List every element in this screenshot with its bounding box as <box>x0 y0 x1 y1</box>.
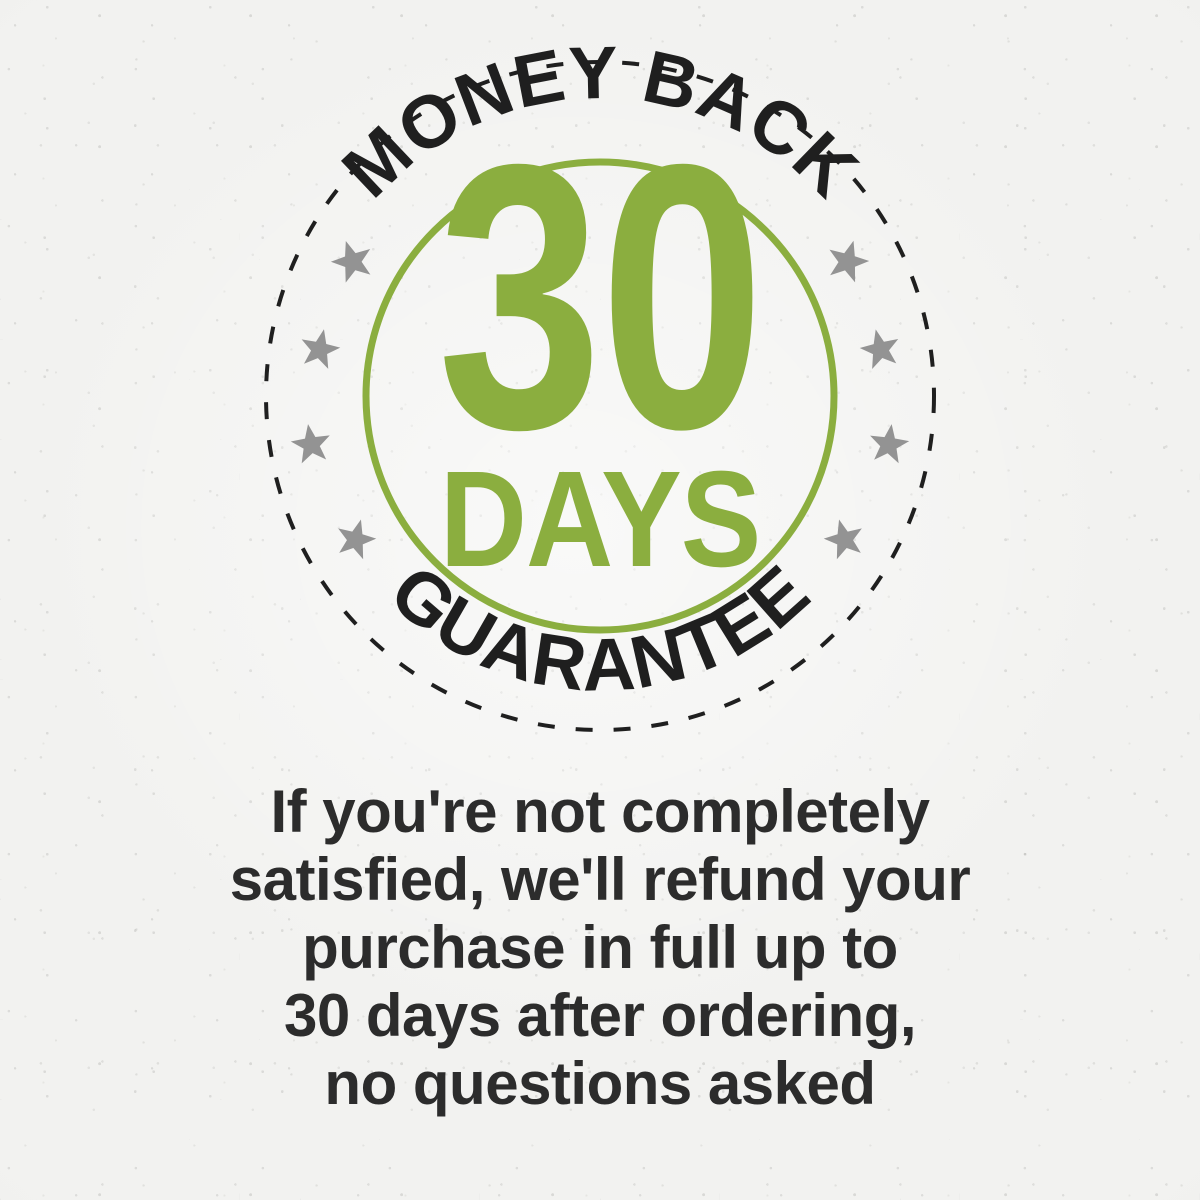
star-icon <box>289 421 334 465</box>
star-icon <box>297 325 343 370</box>
copy-line: satisfied, we'll refund your <box>220 846 980 914</box>
guarantee-badge-graphic: MONEY BACK GUARANTEE <box>0 0 1200 1200</box>
star-icon <box>332 514 380 561</box>
guarantee-days-unit: DAYS <box>440 443 761 595</box>
copy-line: 30 days after ordering, <box>220 982 980 1050</box>
copy-line: purchase in full up to <box>220 914 980 982</box>
guarantee-description: If you're not completely satisfied, we'l… <box>220 778 980 1118</box>
star-icon <box>856 325 903 371</box>
star-icon <box>867 421 911 464</box>
copy-line: If you're not completely <box>220 778 980 846</box>
star-icon <box>823 235 874 284</box>
star-icon <box>820 514 868 561</box>
money-back-guarantee-seal: MONEY BACK GUARANTEE <box>0 0 1200 800</box>
star-icon <box>326 235 378 285</box>
copy-line: no questions asked <box>220 1050 980 1118</box>
